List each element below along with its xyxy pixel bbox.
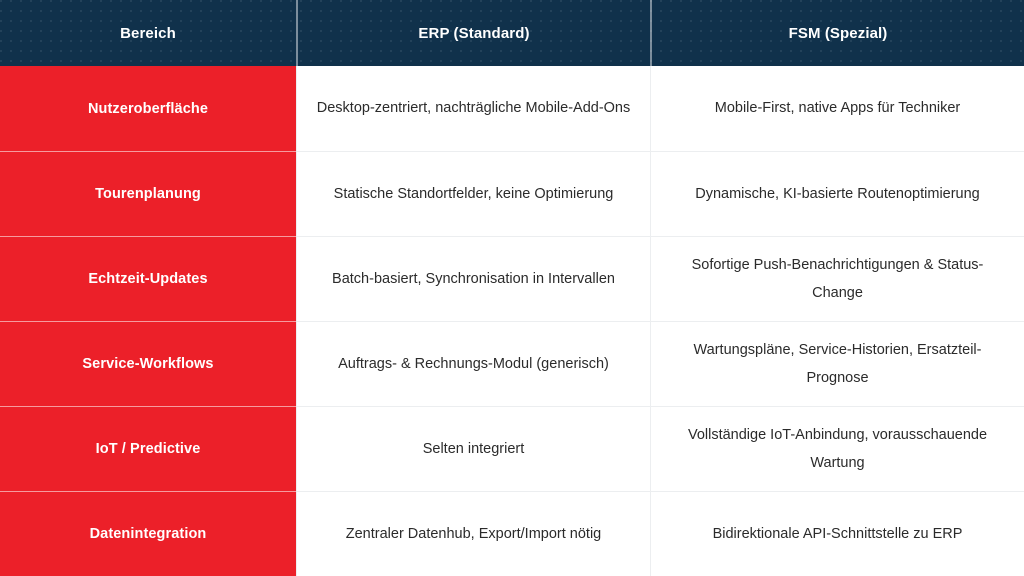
erp-cell: Zentraler Datenhub, Export/Import nötig: [296, 491, 650, 576]
erp-cell: Auftrags- & Rechnungs-Modul (generisch): [296, 321, 650, 406]
erp-value: Statische Standortfelder, keine Optimier…: [334, 180, 614, 208]
table-row: Service-Workflows Auftrags- & Rechnungs-…: [0, 321, 1024, 406]
column-header-label: FSM (Spezial): [789, 25, 888, 42]
fsm-cell: Dynamische, KI-basierte Routenoptimierun…: [650, 151, 1024, 236]
row-label: Service-Workflows: [82, 356, 213, 372]
table-row: Tourenplanung Statische Standortfelder, …: [0, 151, 1024, 236]
fsm-cell: Mobile-First, native Apps für Techniker: [650, 66, 1024, 151]
row-label-cell: Tourenplanung: [0, 151, 296, 236]
erp-value: Selten integriert: [423, 435, 525, 463]
table-body: Nutzeroberfläche Desktop-zentriert, nach…: [0, 66, 1024, 576]
row-label: Nutzeroberfläche: [88, 101, 208, 117]
row-label: IoT / Predictive: [96, 441, 201, 457]
fsm-value: Vollständige IoT-Anbindung, vorausschaue…: [669, 421, 1006, 478]
fsm-value: Mobile-First, native Apps für Techniker: [715, 94, 961, 122]
erp-cell: Selten integriert: [296, 406, 650, 491]
column-header-bereich: Bereich: [0, 0, 296, 66]
table-header-row: Bereich ERP (Standard) FSM (Spezial): [0, 0, 1024, 66]
column-header-label: ERP (Standard): [418, 25, 529, 42]
fsm-cell: Bidirektionale API-Schnittstelle zu ERP: [650, 491, 1024, 576]
erp-value: Auftrags- & Rechnungs-Modul (generisch): [338, 350, 609, 378]
row-label-cell: Echtzeit-Updates: [0, 236, 296, 321]
fsm-cell: Vollständige IoT-Anbindung, vorausschaue…: [650, 406, 1024, 491]
row-label-cell: IoT / Predictive: [0, 406, 296, 491]
erp-cell: Batch-basiert, Synchronisation in Interv…: [296, 236, 650, 321]
fsm-cell: Sofortige Push-Benachrichtigungen & Stat…: [650, 236, 1024, 321]
column-header-fsm: FSM (Spezial): [650, 0, 1024, 66]
erp-cell: Desktop-zentriert, nachträgliche Mobile-…: [296, 66, 650, 151]
erp-cell: Statische Standortfelder, keine Optimier…: [296, 151, 650, 236]
fsm-value: Bidirektionale API-Schnittstelle zu ERP: [713, 520, 963, 548]
column-header-erp: ERP (Standard): [296, 0, 650, 66]
column-header-label: Bereich: [120, 25, 176, 42]
table-row: Datenintegration Zentraler Datenhub, Exp…: [0, 491, 1024, 576]
table-row: IoT / Predictive Selten integriert Volls…: [0, 406, 1024, 491]
table-row: Echtzeit-Updates Batch-basiert, Synchron…: [0, 236, 1024, 321]
row-label-cell: Nutzeroberfläche: [0, 66, 296, 151]
fsm-value: Sofortige Push-Benachrichtigungen & Stat…: [669, 251, 1006, 308]
row-label-cell: Service-Workflows: [0, 321, 296, 406]
row-label-cell: Datenintegration: [0, 491, 296, 576]
row-label: Tourenplanung: [95, 186, 201, 202]
erp-value: Batch-basiert, Synchronisation in Interv…: [332, 265, 615, 293]
fsm-value: Wartungspläne, Service-Historien, Ersatz…: [669, 336, 1006, 393]
fsm-value: Dynamische, KI-basierte Routenoptimierun…: [695, 180, 980, 208]
erp-value: Zentraler Datenhub, Export/Import nötig: [346, 520, 602, 548]
table-row: Nutzeroberfläche Desktop-zentriert, nach…: [0, 66, 1024, 151]
erp-value: Desktop-zentriert, nachträgliche Mobile-…: [317, 94, 631, 122]
row-label: Datenintegration: [90, 526, 207, 542]
comparison-table: Bereich ERP (Standard) FSM (Spezial) Nut…: [0, 0, 1024, 576]
fsm-cell: Wartungspläne, Service-Historien, Ersatz…: [650, 321, 1024, 406]
row-label: Echtzeit-Updates: [88, 271, 207, 287]
